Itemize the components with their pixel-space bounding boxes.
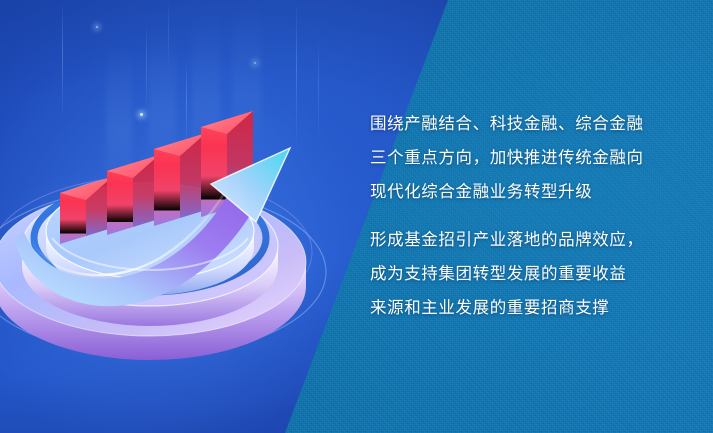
paragraph-2-line-3: 来源和主业发展的重要招商支撑: [370, 291, 690, 325]
slide-canvas: 围绕产融结合、科技金融、综合金融 三个重点方向，加快推进传统金融向 现代化综合金…: [0, 0, 713, 433]
paragraph-1-line-2: 三个重点方向，加快推进传统金融向: [370, 141, 690, 175]
paragraph-1-line-3: 现代化综合金融业务转型升级: [370, 175, 690, 209]
paragraph-2: 形成基金招引产业落地的品牌效应， 成为支持集团转型发展的重要收益 来源和主业发展…: [370, 223, 690, 325]
paragraph-1-line-1: 围绕产融结合、科技金融、综合金融: [370, 107, 690, 141]
paragraph-2-line-1: 形成基金招引产业落地的品牌效应，: [370, 223, 690, 257]
chart-bar-3: [154, 133, 206, 226]
text-content-block: 围绕产融结合、科技金融、综合金融 三个重点方向，加快推进传统金融向 现代化综合金…: [370, 107, 690, 325]
growth-chart-illustration: [0, 0, 340, 433]
paragraph-spacer: [370, 209, 690, 223]
paragraph-1: 围绕产融结合、科技金融、综合金融 三个重点方向，加快推进传统金融向 现代化综合金…: [370, 107, 690, 209]
paragraph-2-line-2: 成为支持集团转型发展的重要收益: [370, 257, 690, 291]
